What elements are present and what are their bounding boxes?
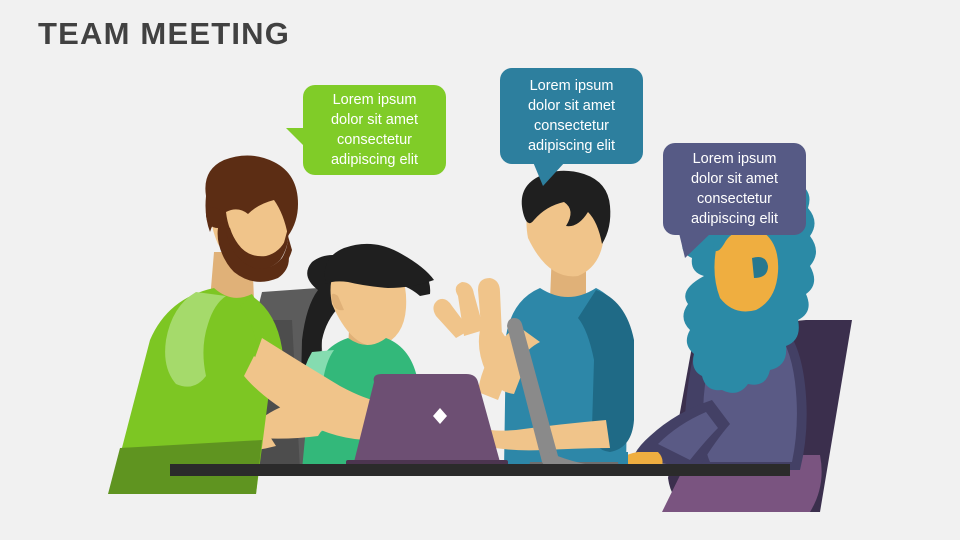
speech-bubble-blue[interactable]: Lorem ipsum dolor sit amet consectetur a… xyxy=(500,68,643,164)
speech-bubble-tail-purple xyxy=(679,233,711,258)
team-meeting-illustration xyxy=(0,0,960,540)
slide-canvas: TEAM MEETING xyxy=(0,0,960,540)
speech-bubble-green[interactable]: Lorem ipsum dolor sit amet consectetur a… xyxy=(303,85,446,175)
speech-bubble-tail-blue xyxy=(533,162,565,186)
speech-bubble-purple[interactable]: Lorem ipsum dolor sit amet consectetur a… xyxy=(663,143,806,235)
desk xyxy=(170,464,790,476)
